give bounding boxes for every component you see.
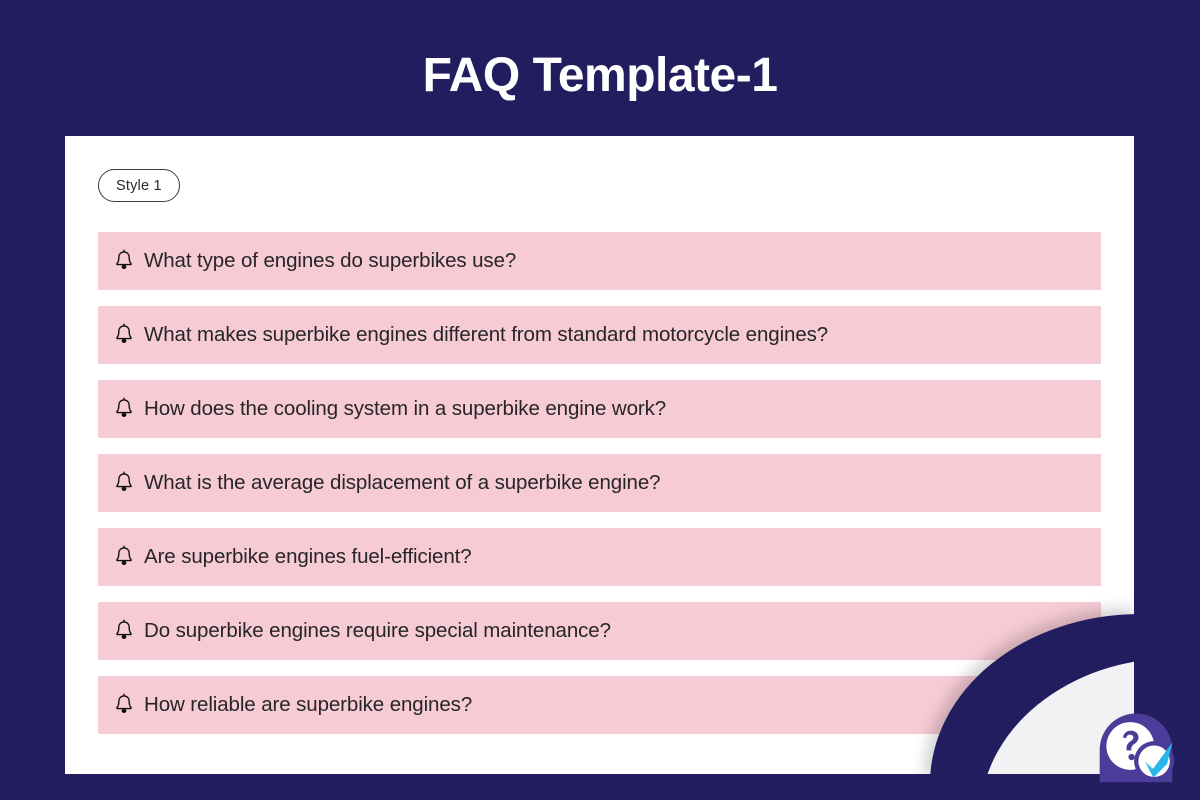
faq-row[interactable]: What type of engines do superbikes use?	[98, 232, 1101, 290]
bell-icon	[113, 471, 135, 495]
faq-question: How does the cooling system in a superbi…	[144, 399, 666, 420]
faq-question: What type of engines do superbikes use?	[144, 251, 516, 272]
faq-row[interactable]: What makes superbike engines different f…	[98, 306, 1101, 364]
faq-question: How reliable are superbike engines?	[144, 695, 472, 716]
style-badge-label: Style 1	[116, 178, 162, 194]
bell-icon	[113, 693, 135, 717]
faq-list: What type of engines do superbikes use? …	[98, 232, 1101, 750]
faq-question: Are superbike engines fuel-efficient?	[144, 547, 472, 568]
faq-row[interactable]: What is the average displacement of a su…	[98, 454, 1101, 512]
faq-card: Style 1 What type of engines do superbik…	[65, 136, 1134, 774]
bell-icon	[113, 545, 135, 569]
page-title: FAQ Template-1	[0, 50, 1200, 103]
faq-question: What makes superbike engines different f…	[144, 325, 828, 346]
faq-question: Do superbike engines require special mai…	[144, 621, 611, 642]
bell-icon	[113, 323, 135, 347]
bell-icon	[113, 249, 135, 273]
faq-row[interactable]: Are superbike engines fuel-efficient?	[98, 528, 1101, 586]
faq-row[interactable]: How does the cooling system in a superbi…	[98, 380, 1101, 438]
question-mark-speech-bubble-check-logo	[1088, 702, 1184, 788]
style-badge[interactable]: Style 1	[98, 169, 180, 202]
bell-icon	[113, 397, 135, 421]
faq-question: What is the average displacement of a su…	[144, 473, 660, 494]
faq-row[interactable]: Do superbike engines require special mai…	[98, 602, 1101, 660]
bell-icon	[113, 619, 135, 643]
